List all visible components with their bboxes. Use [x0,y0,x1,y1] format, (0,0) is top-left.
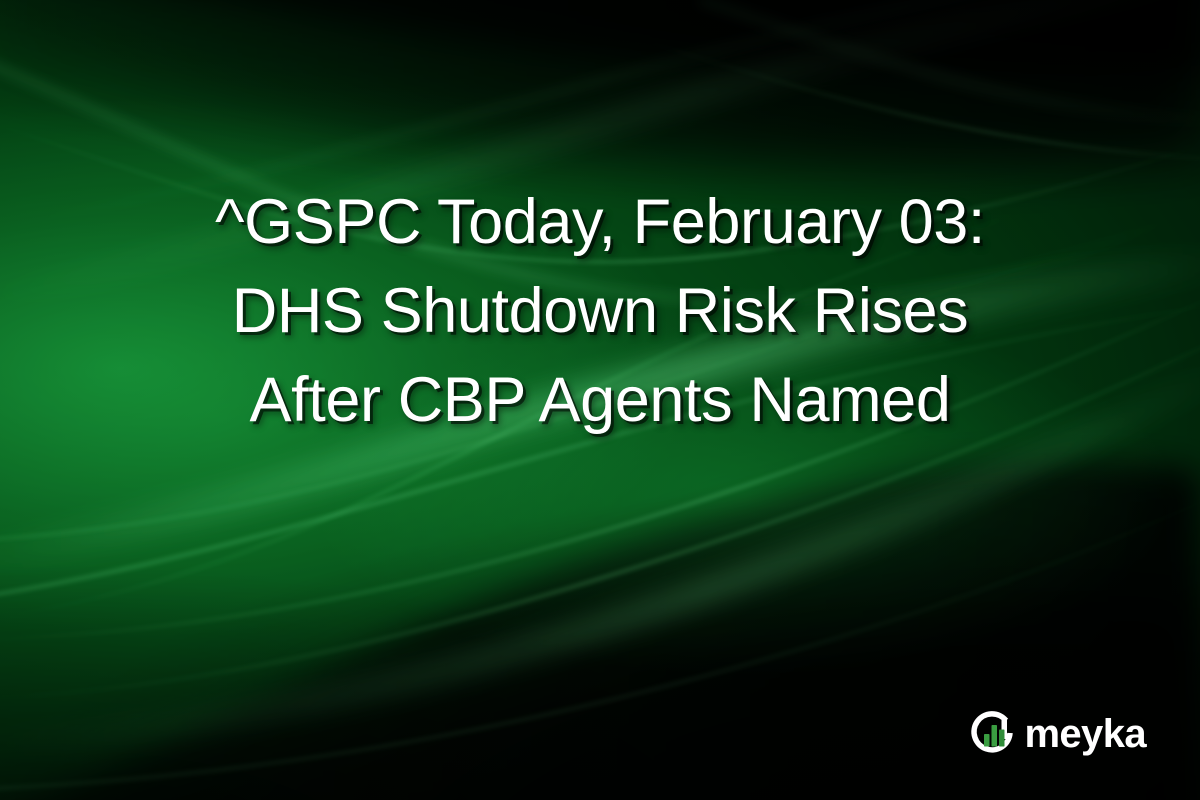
social-share-card: ^GSPC Today, February 03: DHS Shutdown R… [0,0,1200,800]
headline-line-2: DHS Shutdown Risk Rises [48,267,1152,356]
headline: ^GSPC Today, February 03: DHS Shutdown R… [0,178,1200,445]
meyka-logo[interactable]: meyka [967,708,1146,758]
meyka-bar-chart-ring-icon [967,708,1017,758]
headline-line-3: After CBP Agents Named [48,356,1152,445]
headline-line-1: ^GSPC Today, February 03: [48,178,1152,267]
meyka-wordmark: meyka [1024,714,1146,754]
